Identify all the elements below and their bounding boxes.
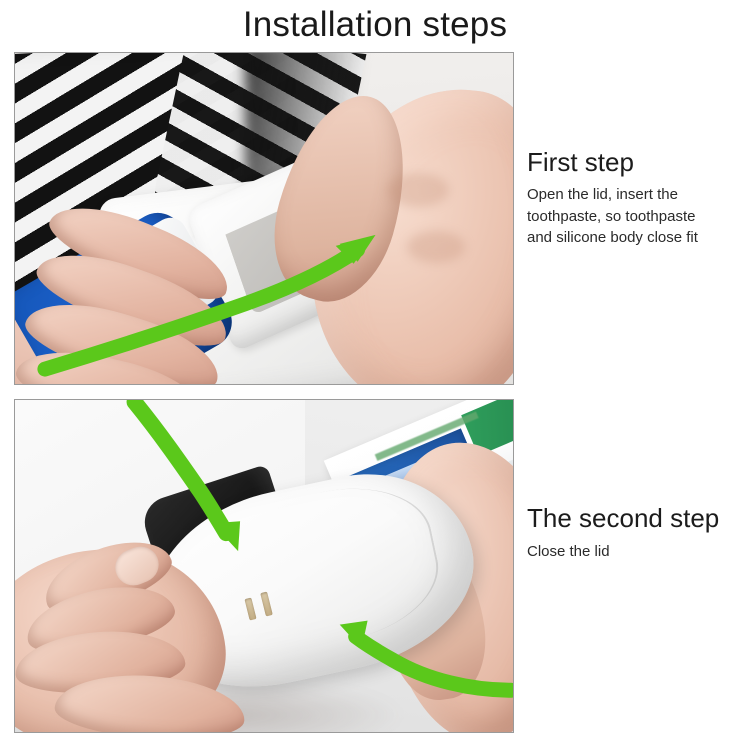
step-2-photo-panel: 2 bbox=[14, 399, 514, 733]
step-2-description: Close the lid bbox=[527, 541, 750, 563]
step-1-description: Open the lid, insert the toothpaste, so … bbox=[527, 184, 750, 249]
step-2-title: The second step bbox=[527, 503, 719, 533]
step-2-description-line: Close the lid bbox=[527, 541, 750, 563]
knuckle-shading bbox=[407, 231, 465, 263]
step-1-description-line: and silicone body close fit bbox=[527, 227, 750, 249]
step-1-photo bbox=[15, 53, 513, 384]
step-1-photo-panel: 1 bbox=[14, 52, 514, 385]
step-1-title: First step bbox=[527, 147, 634, 177]
step-1-description-line: Open the lid, insert the bbox=[527, 184, 750, 206]
step-2-photo bbox=[15, 400, 513, 732]
page-title: Installation steps bbox=[0, 4, 750, 46]
installation-steps-page: Installation steps bbox=[0, 0, 750, 750]
knuckle-shading bbox=[387, 173, 449, 207]
step-1-description-line: toothpaste, so toothpaste bbox=[527, 206, 750, 228]
